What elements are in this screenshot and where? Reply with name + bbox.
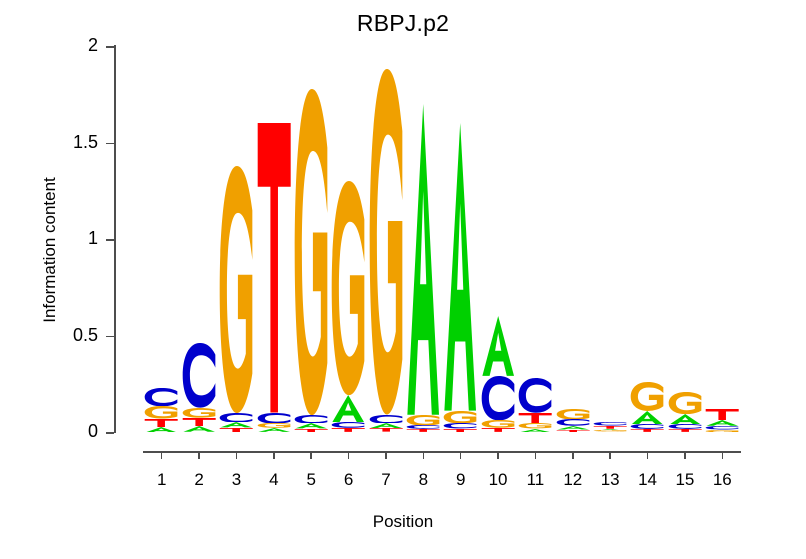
x-axis-tick [236, 451, 238, 459]
logo-stack [705, 409, 739, 432]
x-axis-tick-label: 15 [665, 470, 705, 490]
logo-letter-g [182, 408, 216, 418]
logo-letter-c [369, 415, 403, 424]
logo-letter-a [630, 411, 664, 425]
x-axis-tick-label: 4 [254, 470, 294, 490]
x-axis-tick [385, 451, 387, 459]
logo-letter-g [705, 430, 739, 432]
x-axis-tick-label: 12 [553, 470, 593, 490]
y-axis-tick [106, 239, 114, 241]
x-axis-tick-label: 10 [478, 470, 518, 490]
logo-letter-g [668, 392, 702, 414]
x-axis-tick-label: 5 [291, 470, 331, 490]
logo-letter-g [406, 415, 440, 426]
logo-letter-t [668, 429, 702, 432]
logo-letter-c [518, 378, 552, 413]
y-axis-tick [106, 143, 114, 145]
logo-letter-t [406, 429, 440, 432]
x-axis-tick-label: 11 [515, 470, 555, 490]
logo-stack [294, 89, 328, 432]
logo-letter-a [182, 426, 216, 432]
x-axis-tick [722, 451, 724, 459]
y-axis-tick-label: 0 [38, 421, 98, 442]
logo-stack [331, 181, 365, 432]
logo-stack [406, 104, 440, 432]
x-axis-tick [497, 451, 499, 459]
y-axis-tick-label: 2 [38, 35, 98, 56]
page-title: RBPJ.p2 [0, 10, 806, 37]
y-axis-tick-label: 1.5 [38, 132, 98, 153]
y-axis-tick-label: 1 [38, 228, 98, 249]
y-axis-tick [106, 432, 114, 434]
logo-letter-g [630, 382, 664, 411]
logo-letter-t [556, 430, 590, 432]
logo-letter-a [668, 414, 702, 425]
logo-letter-a [257, 428, 291, 432]
logo-letter-c [257, 413, 291, 424]
y-axis-tick-label: 0.5 [38, 325, 98, 346]
logo-stack [556, 409, 590, 432]
logo-letter-t [294, 429, 328, 432]
x-axis-tick-label: 16 [702, 470, 742, 490]
x-axis-tick-label: 9 [441, 470, 481, 490]
logo-letter-t [705, 409, 739, 421]
logo-stack [219, 166, 253, 432]
logo-stack [481, 316, 515, 432]
y-axis-tick [106, 336, 114, 338]
x-axis-tick-label: 8 [403, 470, 443, 490]
logo-stack [518, 378, 552, 432]
logo-stack [144, 388, 178, 432]
logo-letter-t [443, 429, 477, 432]
logo-letter-a [443, 123, 477, 411]
logo-letter-c [144, 388, 178, 406]
logo-letter-c [294, 415, 328, 424]
x-axis-tick [310, 451, 312, 459]
logo-letter-t [369, 428, 403, 432]
x-axis-tick [348, 451, 350, 459]
logo-letter-g [369, 69, 403, 414]
logo-letter-g [219, 166, 253, 413]
x-axis-tick [609, 451, 611, 459]
logo-letter-g [144, 406, 178, 419]
logo-letter-g [556, 409, 590, 420]
logo-letter-a [406, 104, 440, 415]
y-axis-line [114, 45, 116, 433]
logo-stack [668, 392, 702, 433]
sequence-logo-plot: RBPJ.p2 Information content Position 00.… [0, 0, 806, 559]
y-axis-tick [106, 46, 114, 48]
x-axis-tick [535, 451, 537, 459]
logo-letter-t [144, 419, 178, 427]
logo-letter-c [219, 413, 253, 423]
logo-letter-a [331, 395, 365, 422]
logo-letter-t [630, 429, 664, 432]
x-axis-tick-label: 2 [179, 470, 219, 490]
x-axis-tick [460, 451, 462, 459]
logo-letter-t [257, 123, 291, 413]
logo-letter-g [443, 411, 477, 424]
logo-letter-t [518, 413, 552, 424]
logo-stack [443, 123, 477, 432]
logo-stack [593, 422, 627, 432]
logo-letter-a [481, 316, 515, 376]
logo-letter-c [182, 343, 216, 408]
logo-letter-t [219, 428, 253, 432]
logo-letter-t [182, 418, 216, 427]
x-axis-tick [647, 451, 649, 459]
x-axis-tick [572, 451, 574, 459]
x-axis-line [143, 451, 741, 453]
logo-letter-g [481, 420, 515, 428]
logo-letter-c [556, 419, 590, 426]
logo-letter-t [331, 428, 365, 432]
logo-stack [257, 123, 291, 432]
x-axis-tick [198, 451, 200, 459]
x-axis-tick-label: 6 [329, 470, 369, 490]
logo-letter-t [481, 428, 515, 432]
x-axis-tick-label: 7 [366, 470, 406, 490]
x-axis-title: Position [0, 512, 806, 532]
logo-stack [630, 382, 664, 432]
logo-letter-c [481, 376, 515, 420]
x-axis-tick-label: 1 [142, 470, 182, 490]
logo-letter-a [518, 429, 552, 432]
x-axis-tick [161, 451, 163, 459]
logo-letter-a [144, 427, 178, 432]
logo-letter-g [593, 430, 627, 432]
x-axis-tick-label: 13 [590, 470, 630, 490]
x-axis-tick [273, 451, 275, 459]
x-axis-tick [684, 451, 686, 459]
logo-stacks-area [143, 46, 741, 432]
logo-stack [369, 69, 403, 432]
x-axis-tick-label: 3 [216, 470, 256, 490]
x-axis-tick-label: 14 [628, 470, 668, 490]
x-axis-tick [423, 451, 425, 459]
logo-letter-g [331, 181, 365, 395]
logo-letter-g [294, 89, 328, 415]
logo-stack [182, 343, 216, 432]
